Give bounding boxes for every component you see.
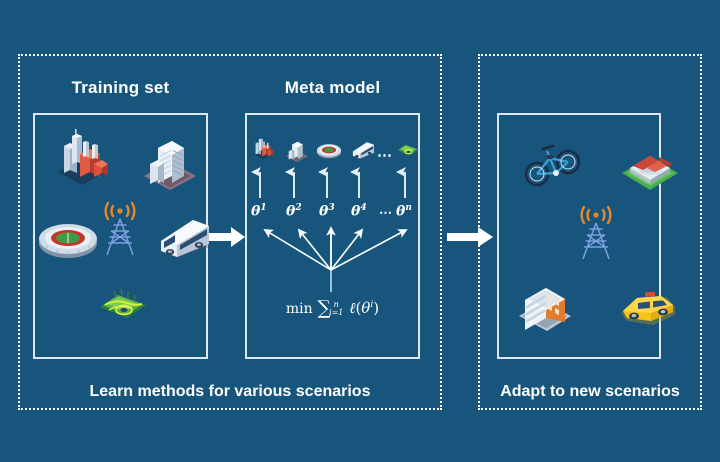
industry-city-icon: [52, 128, 112, 186]
training-set-title: Training set: [33, 78, 208, 98]
bus-icon: [155, 215, 213, 265]
bicycle-icon: [523, 140, 585, 192]
theta-label-1: θ1: [251, 203, 267, 220]
formula-paren-close: ): [373, 299, 379, 317]
adapt-cell-antenna-icon: [573, 207, 619, 265]
taxi-icon: [617, 287, 679, 329]
theta-label-4: θ4: [351, 203, 367, 220]
apartment-icon: [515, 280, 575, 334]
cell-antenna-icon: [97, 203, 143, 261]
theta-sup-3: 3: [328, 203, 334, 213]
theta-label-n: θn: [396, 203, 412, 220]
arrow-meta-to-adapt-icon: [447, 226, 493, 248]
meta-model-title: Meta model: [245, 78, 420, 98]
meta-bus-icon: [350, 140, 376, 162]
theta-label-2: θ2: [286, 203, 302, 220]
theta-sup-2: 2: [295, 203, 301, 213]
objective-formula: min ∑ni=1 ℓ(θi): [245, 296, 420, 318]
theta-sup-4: 4: [360, 203, 366, 213]
adapt-scenarios-caption: Adapt to new scenarios: [478, 383, 702, 401]
formula-sigma: ∑: [317, 297, 331, 319]
theta-ellipsis: ⋯: [379, 205, 393, 221]
theta-symbol-2: θ: [286, 204, 295, 220]
meta-industry-city-icon: [250, 136, 276, 160]
theta-sup-n: n: [405, 203, 412, 213]
meta-icons-ellipsis: ⋯: [377, 148, 393, 163]
learn-methods-caption: Learn methods for various scenarios: [18, 383, 442, 401]
arrow-training-to-meta-icon: [209, 226, 245, 248]
formula-theta: θ: [361, 299, 370, 317]
theta-symbol-1: θ: [251, 204, 260, 220]
theta-symbol-4: θ: [351, 204, 360, 220]
theta-symbol-3: θ: [319, 204, 328, 220]
theta-sup-1: 1: [260, 203, 266, 213]
formula-min: min: [286, 301, 313, 317]
theta-symbol-n: θ: [396, 204, 405, 220]
formula-sum-lower: i=1: [329, 308, 343, 317]
stadium-icon: [37, 215, 99, 261]
terrain-map-icon: [97, 283, 149, 329]
meta-stadium-icon: [316, 140, 342, 160]
stadium-arena-icon: [619, 140, 681, 194]
office-tower-icon: [142, 132, 198, 190]
meta-terrain-map-icon: [396, 139, 420, 161]
meta-learning-diagram: Training set Meta model Learn methods fo…: [0, 0, 720, 462]
meta-office-tower-icon: [285, 138, 309, 162]
theta-label-3: θ3: [319, 203, 335, 220]
